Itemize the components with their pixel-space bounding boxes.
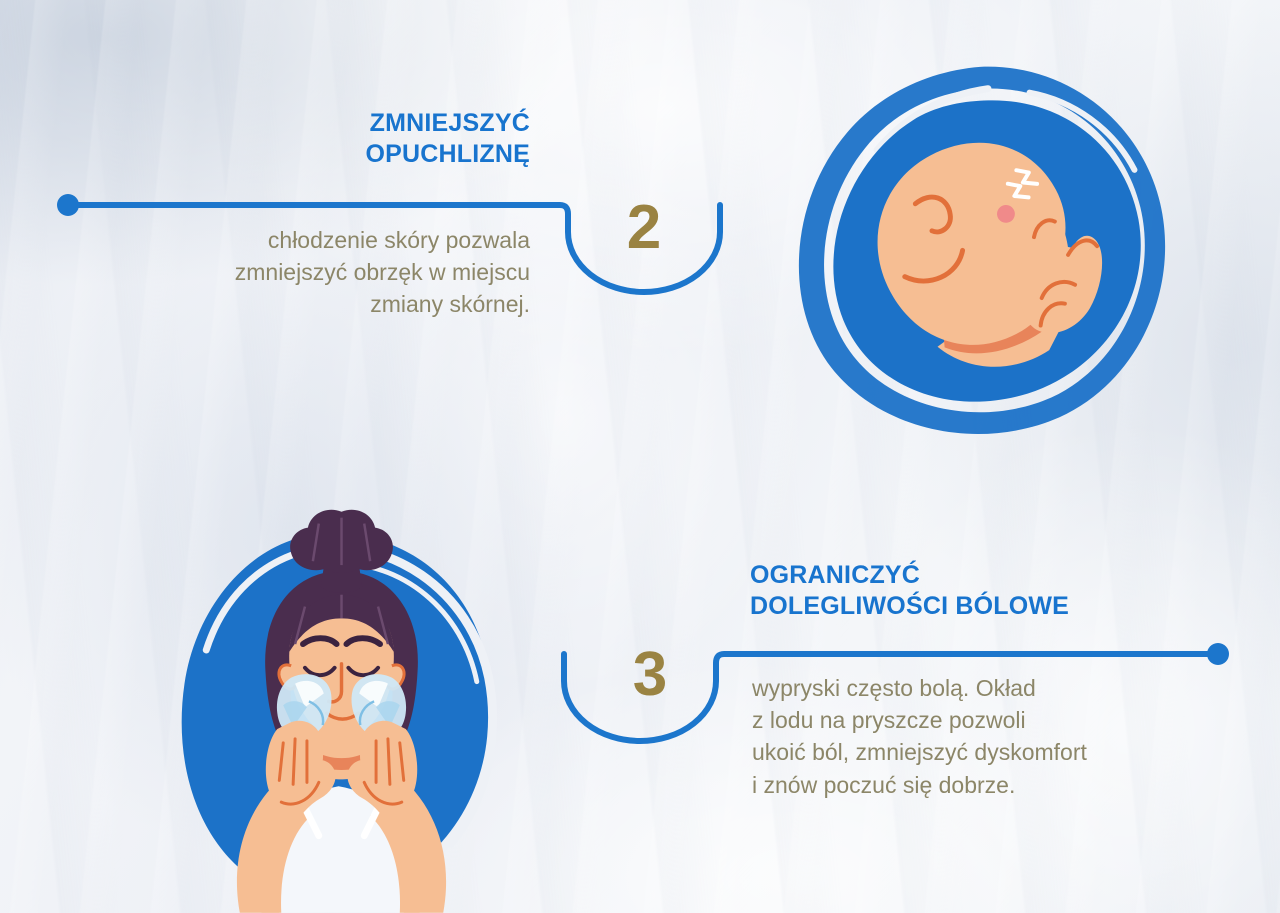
connector-endpoint-dot-left	[57, 194, 79, 216]
step-3-heading: OGRANICZYĆ DOLEGLIWOŚCI BÓLOWE	[750, 560, 1210, 621]
step-number-2: 2	[599, 197, 689, 259]
illustration-woman-applying-ice	[145, 468, 540, 913]
illustration-face-profile-touching-pimple	[786, 55, 1182, 451]
finger-line-right-2	[388, 739, 390, 784]
step-2-heading: ZMNIEJSZYĆ OPUCHLIZNĘ	[120, 108, 530, 169]
step-number-3: 3	[605, 644, 695, 706]
finger-line-left-2	[293, 739, 295, 784]
connector-endpoint-dot-right	[1207, 643, 1229, 665]
infographic-canvas: ZMNIEJSZYĆ OPUCHLIZNĘ chłodzenie skóry p…	[0, 0, 1280, 913]
step-3-body-text: wypryski często bolą. Okład z lodu na pr…	[752, 672, 1232, 801]
step-2-body-text: chłodzenie skóry pozwala zmniejszyć obrz…	[110, 224, 530, 321]
